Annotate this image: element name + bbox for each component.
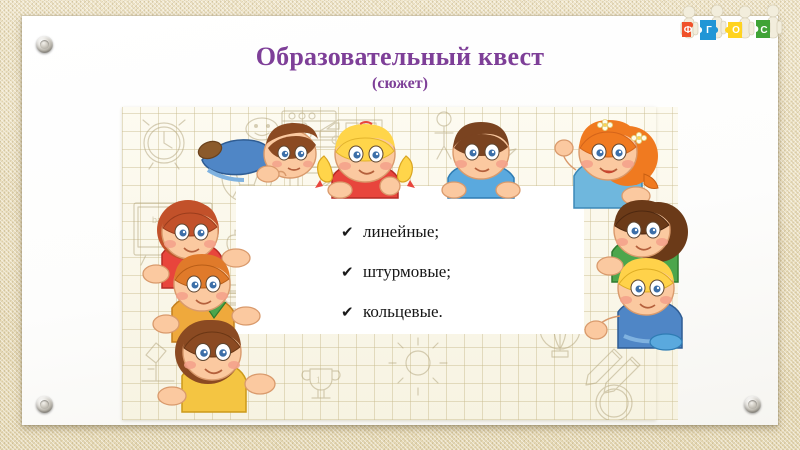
screw-bottom-left bbox=[36, 396, 53, 413]
head bbox=[183, 320, 241, 380]
kid-boy-brown-hair-top-left bbox=[198, 118, 328, 196]
svg-text:1: 1 bbox=[316, 375, 321, 385]
kid-boy-blonde-bottom-right bbox=[588, 252, 698, 348]
alarm-clock-doodle bbox=[143, 120, 185, 169]
head bbox=[618, 258, 674, 315]
arm-raised bbox=[555, 140, 576, 170]
head bbox=[614, 200, 670, 257]
fgos-puzzle-logo: Ф Г О С bbox=[676, 2, 796, 48]
head bbox=[453, 122, 509, 179]
kid-girl-brown-hair-bottom-left bbox=[158, 312, 276, 412]
list-item-label: кольцевые. bbox=[363, 302, 443, 321]
logo-letter-1: Ф bbox=[684, 25, 693, 36]
screw-bottom-right bbox=[744, 396, 761, 413]
sun-doodle bbox=[389, 338, 447, 395]
trophy-doodle: 1 bbox=[302, 369, 340, 398]
screw-top-left bbox=[36, 36, 53, 53]
checkmark-icon: ✔ bbox=[341, 224, 363, 243]
list-item-label: штурмовые; bbox=[363, 262, 451, 281]
checkmark-icon: ✔ bbox=[341, 264, 363, 283]
list-item-label: линейные; bbox=[363, 222, 439, 241]
list-item: ✔ штурмовые; bbox=[341, 262, 601, 283]
pencils-doodle bbox=[586, 349, 640, 393]
arm-reaching bbox=[585, 316, 620, 339]
list-item: ✔ линейные; bbox=[341, 222, 601, 243]
head bbox=[174, 254, 230, 311]
logo-letter-3: О bbox=[732, 25, 740, 36]
legs bbox=[650, 334, 682, 350]
head bbox=[579, 120, 639, 180]
list-item: ✔ кольцевые. bbox=[341, 302, 601, 323]
head bbox=[335, 122, 395, 182]
kid-girl-blonde-pigtails-top bbox=[316, 120, 416, 200]
kid-boy-blue-shirt-top bbox=[434, 118, 530, 198]
checkmark-icon: ✔ bbox=[341, 304, 363, 323]
slide-canvas: Ф Г О С Образовательный квест (сюжет) bbox=[0, 0, 800, 450]
bullet-list: ✔ линейные; ✔ штурмовые; ✔ кольцевые. bbox=[341, 222, 601, 342]
logo-letter-4: С bbox=[760, 25, 767, 36]
logo-letter-2: Г bbox=[706, 25, 712, 36]
